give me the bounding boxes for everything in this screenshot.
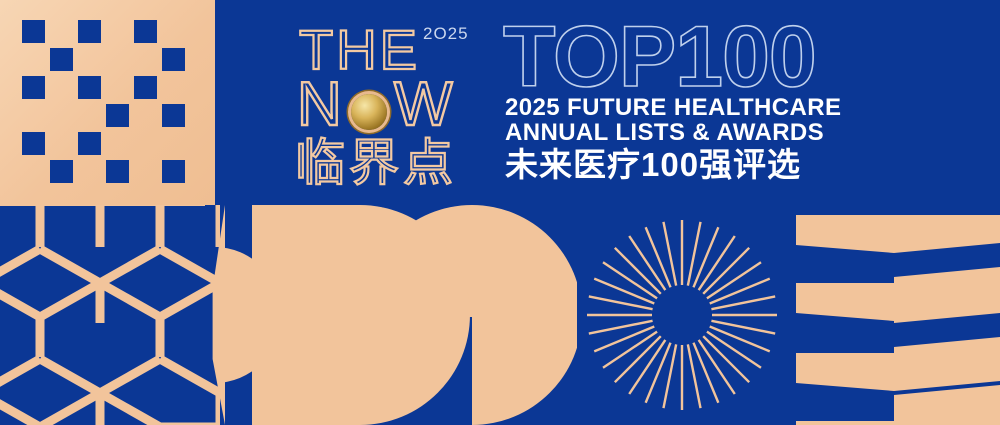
hexagon-lattice-svg [0, 205, 220, 425]
logo-chinese-label: 临界点 [295, 138, 457, 188]
hex-top-edge [0, 205, 205, 206]
logo-now-n: N [297, 70, 344, 139]
logo-year-label: 2O25 [423, 24, 469, 44]
checker-cell [162, 48, 185, 71]
checker-cell [134, 20, 157, 43]
subtitle-cn: 未来医疗100强评选 [505, 147, 801, 183]
sunburst-radial-pattern [580, 205, 785, 425]
subtitle-en-line1: 2025 FUTURE HEALTHCARE [505, 95, 841, 120]
diagonal-stripes-pattern [786, 205, 1000, 425]
checker-cell [162, 104, 185, 127]
headline-block: TOP100 2025 FUTURE HEALTHCARE ANNUAL LIS… [503, 14, 973, 199]
checker-cell [22, 76, 45, 99]
checker-cell [78, 20, 101, 43]
semicircle-svg [222, 205, 577, 425]
banner-root: THE 2O25 NOW 临界点 TOP100 2025 FUTURE HEAL… [0, 0, 1000, 425]
stripes-left-half [796, 215, 894, 425]
checker-cell [106, 160, 129, 183]
diagonal-stripes-svg [786, 205, 1000, 425]
checker-cell [22, 20, 45, 43]
logo-now-w: W [394, 70, 455, 139]
checker-cell [78, 76, 101, 99]
semicircle-pac-pattern [222, 205, 577, 425]
checker-cell [134, 76, 157, 99]
checkerboard-pattern [0, 0, 215, 205]
checker-cell [162, 160, 185, 183]
stripes-right-half [894, 215, 1000, 425]
checker-cell [78, 132, 101, 155]
gold-orb-icon [351, 94, 387, 130]
checker-cell [22, 132, 45, 155]
top100-outline-text: TOP100 [503, 14, 816, 100]
checker-cell [106, 104, 129, 127]
decorative-band [0, 205, 1000, 425]
checker-cell [50, 160, 73, 183]
hexagon-lattice-pattern [0, 205, 220, 425]
subtitle-en-line2: ANNUAL LISTS & AWARDS [505, 120, 824, 145]
the-now-logo: THE 2O25 NOW 临界点 [295, 22, 490, 192]
checker-cell [50, 48, 73, 71]
sunburst-svg [580, 205, 785, 425]
